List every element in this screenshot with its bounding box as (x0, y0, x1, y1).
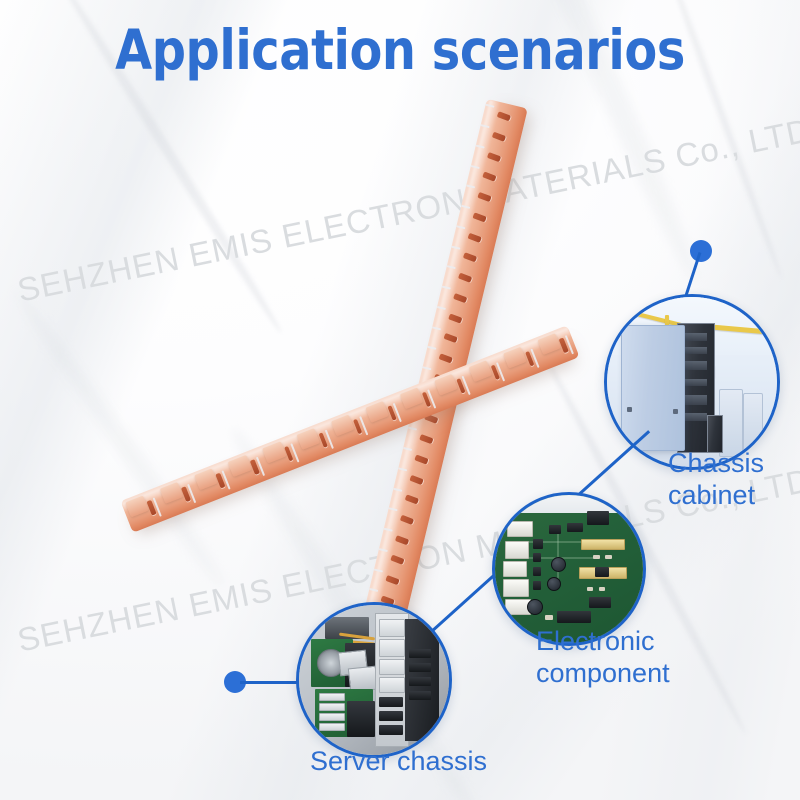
strip-tab (331, 415, 355, 437)
strip-gap (461, 205, 470, 209)
strip-gap (408, 427, 417, 431)
strip-tab (159, 482, 183, 504)
strip-slot (463, 252, 477, 262)
strip-slot (400, 515, 414, 525)
strip-slot (419, 434, 433, 444)
strip-gap (456, 225, 465, 229)
connector-dot-chassis-cabinet (690, 240, 712, 262)
strip-slot (386, 575, 400, 585)
strip-gap (485, 104, 494, 108)
strip-gap (427, 346, 436, 350)
strip-gap (374, 568, 383, 572)
photo-open-server-chassis (299, 605, 449, 755)
strip-gap (422, 366, 431, 370)
strip-gap (384, 528, 393, 532)
strip-gap (388, 508, 397, 512)
strip-tab (469, 361, 493, 383)
strip-slot (487, 152, 501, 162)
strip-tab (263, 442, 287, 464)
strip-slot (439, 353, 453, 363)
strip-gap (437, 306, 446, 310)
strip-gap (403, 447, 412, 451)
strip-slot (473, 212, 487, 222)
callout-chassis-cabinet[interactable] (604, 294, 780, 470)
strip-tab (125, 496, 149, 518)
strip-slot (405, 494, 419, 504)
strip-slot (395, 535, 409, 545)
strip-slot (492, 131, 506, 141)
strip-slot (478, 192, 492, 202)
strip-slot (415, 454, 429, 464)
strip-tab (537, 334, 561, 356)
poster-canvas: SEHZHEN EMIS ELECTRON MATERIALS Co., LTD… (0, 0, 800, 800)
strip-slot (458, 273, 472, 283)
strip-gap (379, 548, 388, 552)
label-chassis-cabinet: Chassis cabinet (668, 448, 764, 512)
callout-server-chassis[interactable] (296, 602, 452, 758)
strip-slot (468, 232, 482, 242)
strip-gap (398, 467, 407, 471)
label-electronic-component: Electronic component (536, 626, 670, 690)
strip-gap (466, 185, 475, 189)
strip-gap (476, 144, 485, 148)
strip-slot (444, 333, 458, 343)
callout-electronic-component[interactable] (492, 492, 646, 646)
strip-tab (297, 428, 321, 450)
page-title: Application scenarios (52, 18, 748, 82)
connector-line-server-chassis (240, 681, 302, 684)
strip-gap (480, 124, 489, 128)
photo-server-cabinet-room (607, 297, 777, 467)
strip-slot (482, 172, 496, 182)
strip-slot (410, 474, 424, 484)
strip-slot (448, 313, 462, 323)
strip-tab (366, 401, 390, 423)
strip-slot (390, 555, 404, 565)
photo-circuit-board (495, 495, 643, 643)
strip-gap (451, 245, 460, 249)
watermark-top: SEHZHEN EMIS ELECTRON MATERIALS Co., LTD (14, 111, 800, 310)
label-server-chassis: Server chassis (310, 746, 487, 778)
strip-gap (393, 487, 402, 491)
strip-gap (432, 326, 441, 330)
strip-tab (503, 347, 527, 369)
strip-tab (434, 374, 458, 396)
strip-gap (446, 266, 455, 270)
strip-slot (497, 111, 511, 121)
strip-slot (453, 293, 467, 303)
strip-gap (369, 588, 378, 592)
strip-tab (400, 388, 424, 410)
strip-tab (194, 469, 218, 491)
strip-gap (442, 286, 451, 290)
marble-vein (9, 286, 230, 591)
strip-tab (228, 455, 252, 477)
strip-gap (471, 165, 480, 169)
